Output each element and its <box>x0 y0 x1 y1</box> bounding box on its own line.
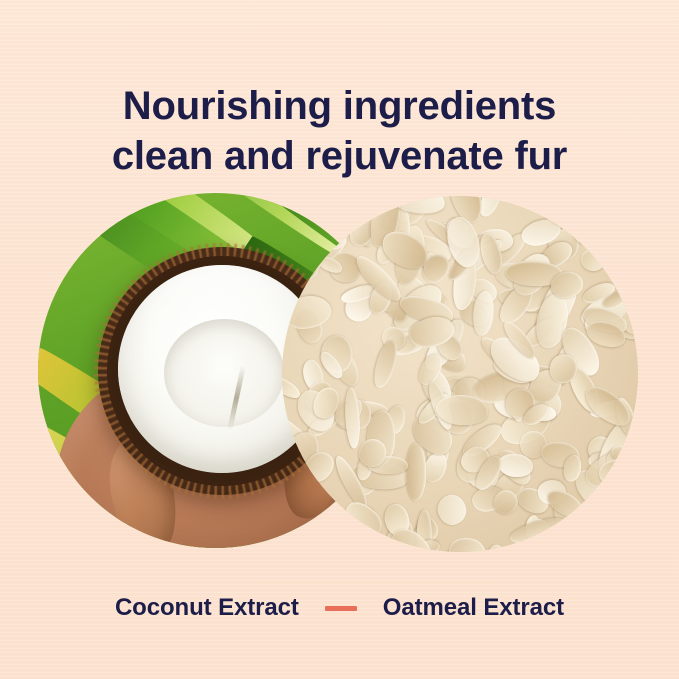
oat-flake <box>434 491 470 528</box>
oat-flake <box>406 443 426 501</box>
caption-separator-dash <box>325 606 357 611</box>
ingredient-caption-row: Coconut Extract Oatmeal Extract <box>0 594 679 622</box>
oat-flake <box>635 338 638 367</box>
oat-flake <box>300 501 332 541</box>
coconut-cavity <box>164 319 285 427</box>
caption-coconut-label: Coconut Extract <box>115 594 299 622</box>
oat-flake <box>485 543 510 552</box>
oatmeal-photo <box>282 196 638 552</box>
oat-flake <box>580 247 607 271</box>
headline-line-1: Nourishing ingredients <box>0 81 679 131</box>
caption-oatmeal-label: Oatmeal Extract <box>383 594 564 622</box>
oatmeal-image-circle <box>282 196 638 552</box>
oat-flake <box>620 263 638 285</box>
oat-flake <box>370 338 401 390</box>
oat-flake <box>344 387 362 449</box>
page-title: Nourishing ingredients clean and rejuven… <box>0 81 679 181</box>
headline-line-2: clean and rejuvenate fur <box>0 131 679 181</box>
oat-flake <box>282 293 333 333</box>
ingredient-poster: Nourishing ingredients clean and rejuven… <box>0 0 679 679</box>
oat-flake <box>447 535 489 552</box>
